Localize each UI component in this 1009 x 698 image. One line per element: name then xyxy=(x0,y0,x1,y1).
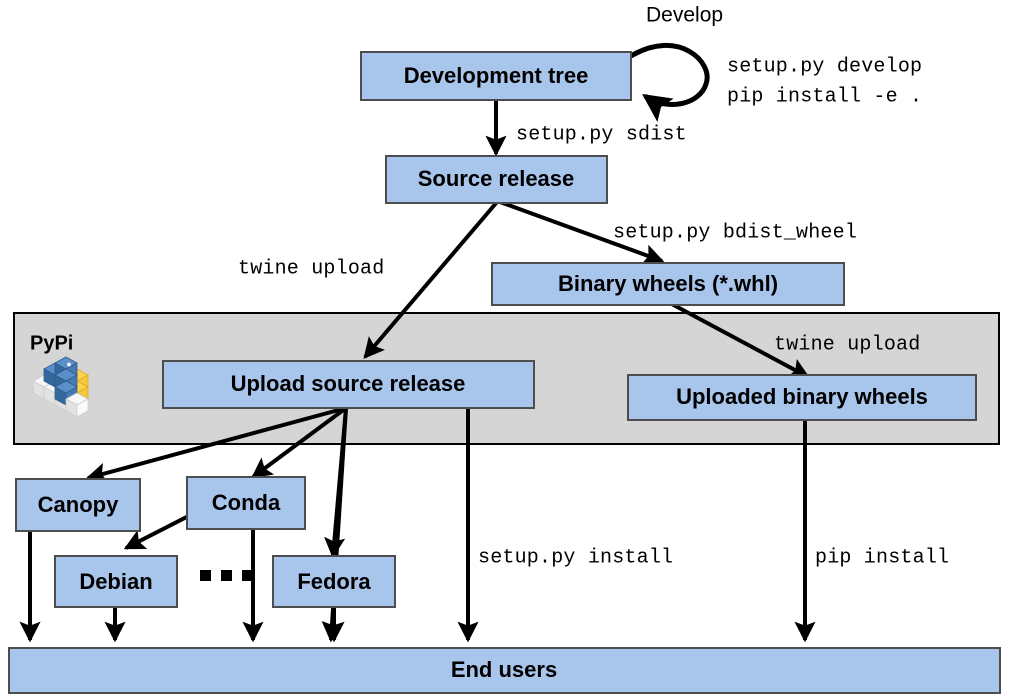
node-end-users[interactable]: End users xyxy=(9,648,1000,693)
node-conda[interactable]: Conda xyxy=(187,477,305,529)
node-conda-label: Conda xyxy=(212,490,281,515)
node-source-release[interactable]: Source release xyxy=(386,156,607,203)
node-binary-wheels[interactable]: Binary wheels (*.whl) xyxy=(492,263,844,305)
node-uploaded-binary-wheels-label: Uploaded binary wheels xyxy=(676,384,928,409)
node-upload-source-release[interactable]: Upload source release xyxy=(163,361,534,408)
edge-label-pip-install-editable: pip install -e . xyxy=(727,85,922,108)
ellipsis-more-distros xyxy=(200,570,253,581)
node-canopy[interactable]: Canopy xyxy=(16,479,140,531)
packaging-flow-diagram: PyPi xyxy=(0,0,1009,698)
node-debian-label: Debian xyxy=(79,569,152,594)
edge-develop-self-loop xyxy=(631,45,707,104)
node-development-tree[interactable]: Development tree xyxy=(361,52,631,100)
edge-label-setup-install: setup.py install xyxy=(478,546,673,569)
node-debian[interactable]: Debian xyxy=(55,556,177,607)
node-fedora[interactable]: Fedora xyxy=(273,556,395,607)
node-end-users-label: End users xyxy=(451,657,557,682)
edge-label-pip-install: pip install xyxy=(815,546,949,569)
edge-label-twine-upload-wheels: twine upload xyxy=(774,333,920,356)
node-source-release-label: Source release xyxy=(418,166,575,191)
edge-label-setup-bdist-wheel: setup.py bdist_wheel xyxy=(613,221,857,244)
diagram-canvas: PyPi xyxy=(0,0,1009,698)
node-development-tree-label: Development tree xyxy=(404,63,589,88)
edge-label-develop: Develop xyxy=(646,4,723,27)
node-fedora-label: Fedora xyxy=(297,569,371,594)
node-upload-source-release-label: Upload source release xyxy=(231,371,466,396)
edge-label-setup-develop: setup.py develop xyxy=(727,55,922,78)
node-canopy-label: Canopy xyxy=(38,492,119,517)
edge-label-twine-upload-source: twine upload xyxy=(238,257,384,280)
node-binary-wheels-label: Binary wheels (*.whl) xyxy=(558,271,778,296)
edge-label-setup-sdist: setup.py sdist xyxy=(516,123,687,146)
node-uploaded-binary-wheels[interactable]: Uploaded binary wheels xyxy=(628,375,976,420)
pypi-group-label: PyPi xyxy=(30,332,73,354)
